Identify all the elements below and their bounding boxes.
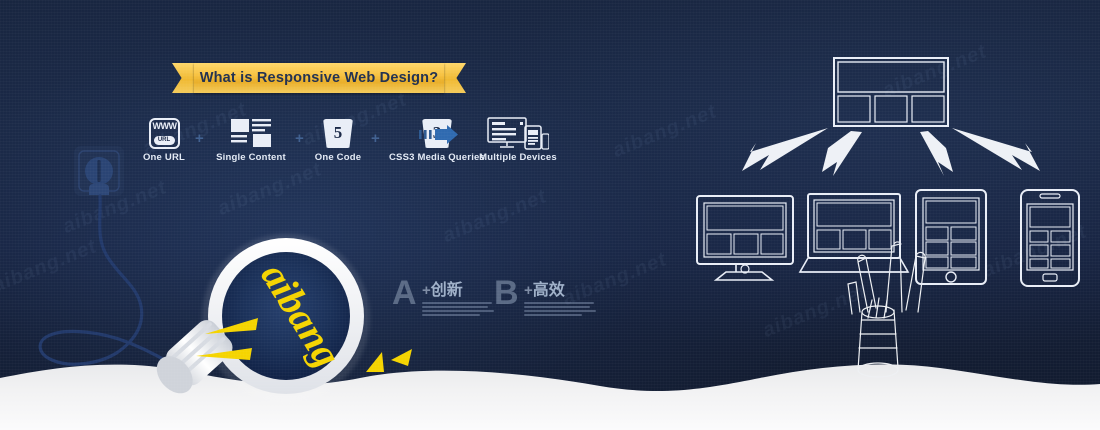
- desktop-icon: [697, 196, 793, 280]
- phone-icon: [1021, 190, 1079, 286]
- ribbon-title: What is Responsive Web Design?: [172, 63, 466, 93]
- ribbon-text: What is Responsive Web Design?: [172, 63, 466, 93]
- responsive-web-design-banner: aibang.net aibang.net aibang.net aibang.…: [0, 0, 1100, 430]
- device-diagram: [0, 0, 1100, 430]
- tablet-icon: [916, 190, 986, 284]
- wireframe-layout: [834, 58, 948, 126]
- laptop-icon: [800, 194, 908, 272]
